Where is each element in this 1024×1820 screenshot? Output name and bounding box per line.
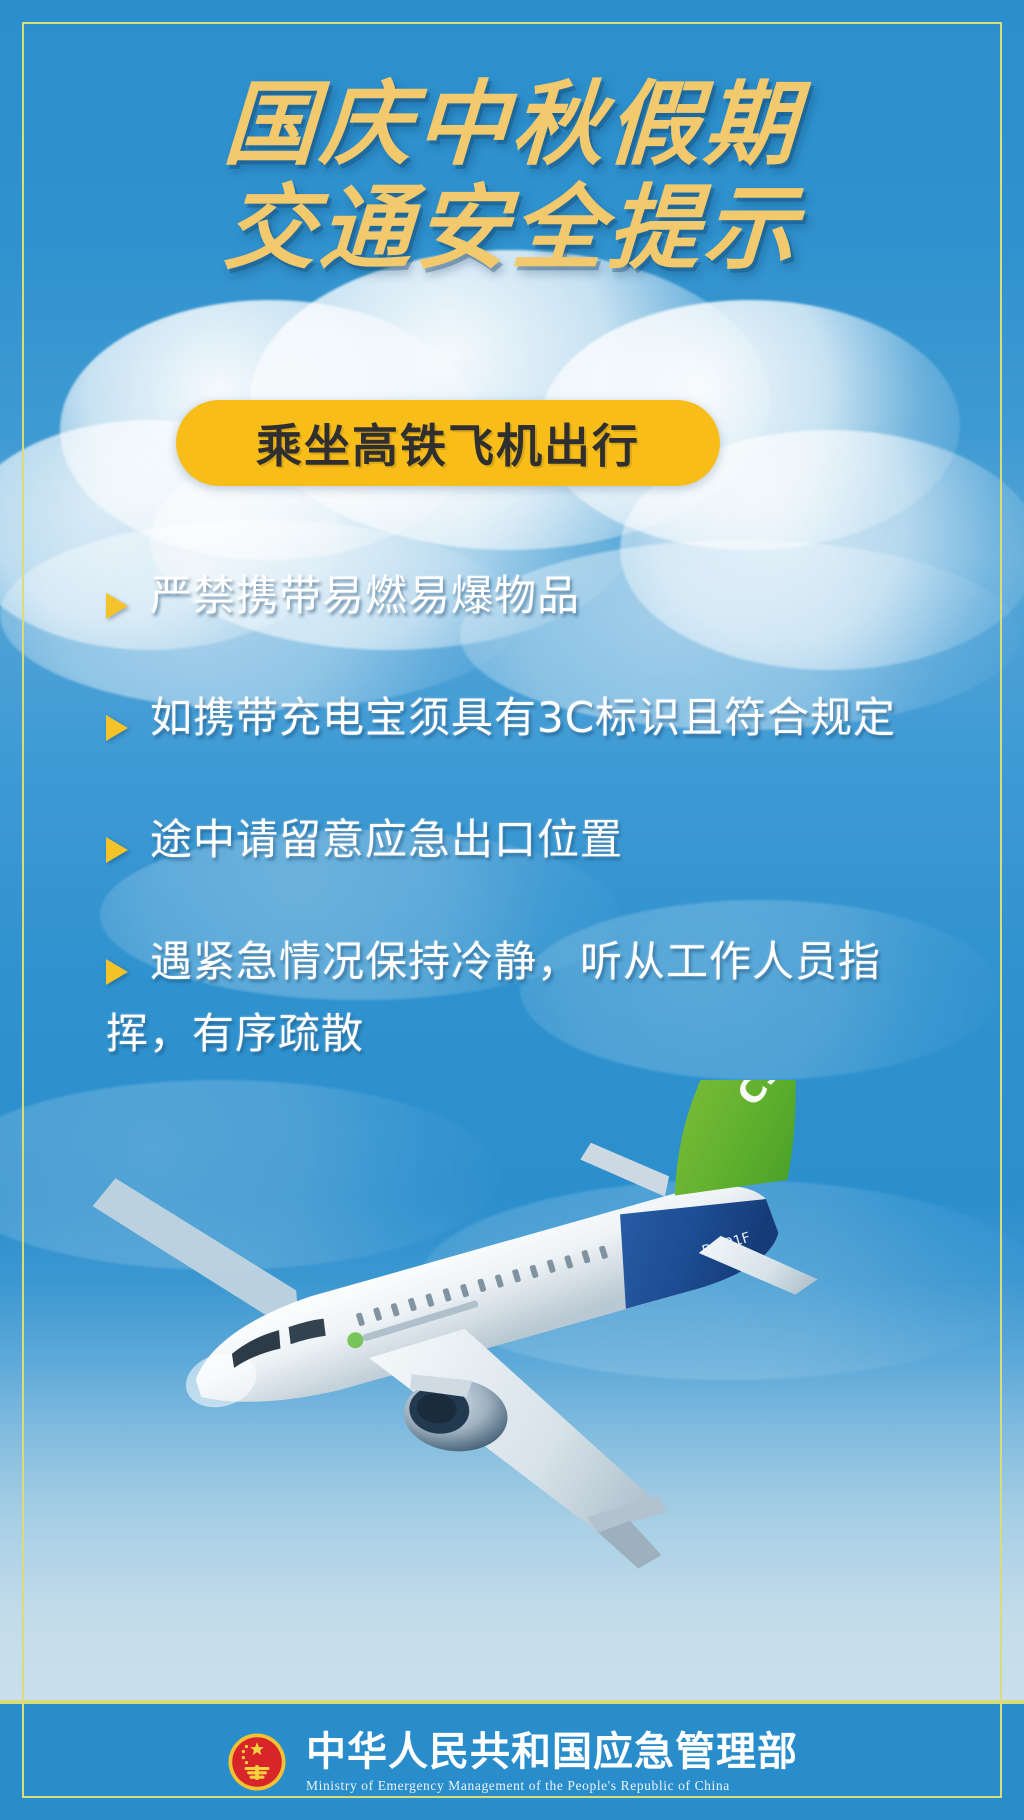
footer-text-block: 中华人民共和国应急管理部 Ministry of Emergency Manag… [306,1730,798,1795]
section-banner: 乘坐高铁飞机出行 [176,400,720,486]
triangle-marker-icon [106,593,128,619]
title-line-2: 交通安全提示 [0,176,1024,280]
triangle-marker-icon [106,959,128,985]
triangle-marker-icon [106,715,128,741]
list-item: 遇紧急情况保持冷静，听从工作人员指挥，有序疏散 [106,926,942,1070]
tips-list: 严禁携带易燃易爆物品 如携带充电宝须具有3C标识且符合规定 途中请留意应急出口位… [106,560,942,1120]
list-item-text: 严禁携带易燃易爆物品 [150,571,580,620]
list-item-text: 如携带充电宝须具有3C标识且符合规定 [150,693,896,742]
national-emblem-icon [226,1731,288,1793]
list-item-text: 遇紧急情况保持冷静，听从工作人员指挥，有序疏散 [106,937,881,1058]
list-item: 严禁携带易燃易爆物品 [106,560,942,632]
section-banner-label: 乘坐高铁飞机出行 [256,410,640,476]
poster-title: 国庆中秋假期 交通安全提示 [0,72,1024,280]
triangle-marker-icon [106,837,128,863]
list-item: 途中请留意应急出口位置 [106,804,942,876]
footer-org-en: Ministry of Emergency Management of the … [306,1777,798,1795]
list-item: 如携带充电宝须具有3C标识且符合规定 [106,682,942,754]
list-item-text: 途中请留意应急出口位置 [150,815,623,864]
poster-canvas: 国庆中秋假期 交通安全提示 乘坐高铁飞机出行 严禁携带易燃易爆物品 如携带充电宝… [0,0,1024,1820]
title-line-1: 国庆中秋假期 [0,72,1024,176]
footer-org-cn: 中华人民共和国应急管理部 [306,1730,798,1774]
footer-bar: 中华人民共和国应急管理部 Ministry of Emergency Manag… [0,1704,1024,1820]
